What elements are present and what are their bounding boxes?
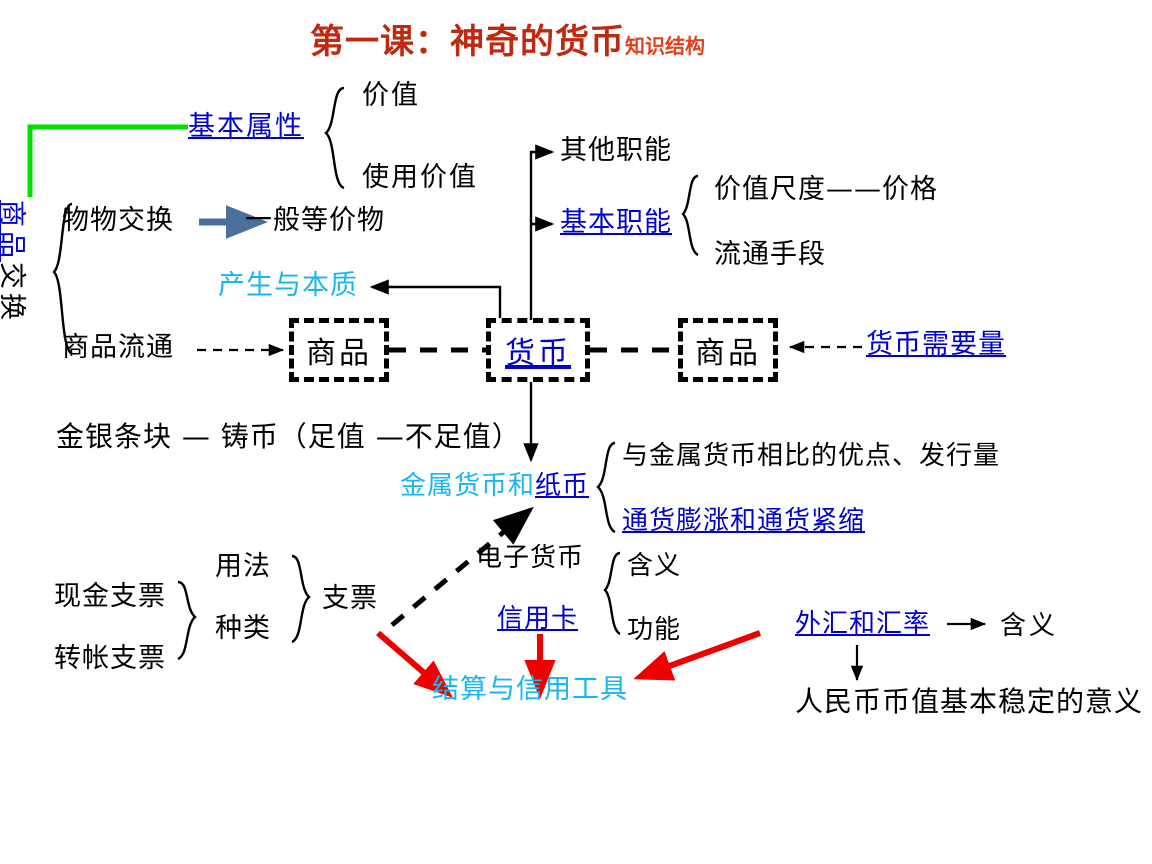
settlement-credit-tools-node[interactable]: 结算与信用工具 xyxy=(432,676,628,703)
cash-check-node: 现金支票 xyxy=(54,583,166,610)
origin-essence-arrow xyxy=(372,287,500,318)
commodity-box-right[interactable]: 商品 xyxy=(678,318,778,382)
forex-exchange-rate-node[interactable]: 外汇和汇率 xyxy=(795,611,930,637)
page-title-main: 第一课：神奇的货币 xyxy=(310,22,625,62)
value-node: 价值 xyxy=(362,82,420,109)
metal-money-label: 金属货币和 xyxy=(400,471,535,501)
credit-card-meaning-node: 含义 xyxy=(627,553,681,579)
commodity-exchange-vertical-label: 商品交换 xyxy=(0,200,34,324)
green-connector xyxy=(30,127,188,197)
general-equivalent-node: 一般等价物 xyxy=(245,207,385,234)
brace-paper-money xyxy=(598,443,615,532)
rmb-stability-node: 人民币币值基本稳定的意义 xyxy=(795,688,1143,716)
page-title: 第一课：神奇的货币知识结构 xyxy=(310,14,705,63)
usage-node: 用法 xyxy=(215,553,271,580)
commodity-box-left-label: 商品 xyxy=(306,328,372,372)
value-scale-price-node: 价值尺度——价格 xyxy=(714,176,938,203)
gold-silver-coin-node: 金银条块 — 铸币（足值 —不足值） xyxy=(56,423,521,451)
transfer-check-node: 转帐支票 xyxy=(54,645,166,672)
brace-check-kinds xyxy=(178,582,195,659)
money-box-label: 货币 xyxy=(505,328,571,372)
barter-node: 物物交换 xyxy=(62,207,174,234)
brace-credit-card xyxy=(605,553,620,634)
paper-money-label[interactable]: 纸币 xyxy=(535,471,589,501)
commodity-box-right-label: 商品 xyxy=(695,328,761,372)
money-demand-node[interactable]: 货币需要量 xyxy=(866,331,1006,358)
types-node: 种类 xyxy=(215,615,271,642)
commodity-circulation-node: 商品流通 xyxy=(62,334,174,361)
electronic-money-node: 电子货币 xyxy=(476,545,584,571)
functions-spine xyxy=(531,152,552,320)
inflation-deflation-node[interactable]: 通货膨涨和通货紧缩 xyxy=(622,508,865,534)
page-title-sub: 知识结构 xyxy=(625,34,705,58)
exchange-label: 交换 xyxy=(0,262,27,324)
use-value-node: 使用价值 xyxy=(362,164,478,191)
metal-paper-money-node[interactable]: 金属货币和纸币 xyxy=(400,473,589,499)
credit-card-node[interactable]: 信用卡 xyxy=(497,606,578,632)
basic-attribute-node[interactable]: 基本属性 xyxy=(188,113,304,140)
basic-functions-node[interactable]: 基本职能 xyxy=(560,209,672,236)
commodity-box-left[interactable]: 商品 xyxy=(289,318,389,382)
diagram-canvas: 第一课：神奇的货币知识结构 xyxy=(0,0,1152,864)
brace-check-aspects xyxy=(292,556,309,642)
brace-basic-functions xyxy=(683,176,698,255)
brace-basic-attribute xyxy=(326,88,344,188)
commodity-label[interactable]: 商品 xyxy=(0,200,27,262)
forex-meaning-node: 含义 xyxy=(1000,613,1058,639)
other-functions-node: 其他职能 xyxy=(560,137,672,164)
money-box[interactable]: 货币 xyxy=(486,318,590,382)
circulation-means-node: 流通手段 xyxy=(714,241,826,268)
check-node: 支票 xyxy=(322,585,378,612)
credit-card-function-node: 功能 xyxy=(627,617,681,643)
advantages-issue-node: 与金属货币相比的优点、发行量 xyxy=(622,443,1000,469)
origin-essence-node[interactable]: 产生与本质 xyxy=(218,272,358,299)
